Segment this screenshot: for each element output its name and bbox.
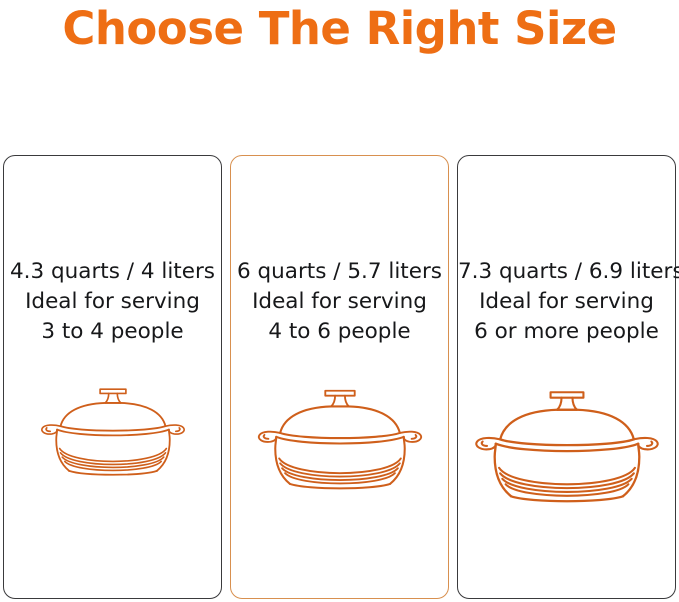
capacity-label: 7.3 quarts / 6.9 liters — [458, 257, 675, 287]
dutch-oven-pot-icon — [464, 378, 670, 504]
page-title: Choose The Right Size — [0, 0, 679, 58]
serving-people-label: 3 to 4 people — [4, 317, 221, 347]
serving-label: Ideal for serving — [4, 287, 221, 317]
serving-people-label: 6 or more people — [458, 317, 675, 347]
size-card-text: 4.3 quarts / 4 liters Ideal for serving … — [4, 257, 221, 347]
pot-illustration-wrap — [231, 368, 448, 598]
pot-illustration-wrap — [4, 368, 221, 598]
dutch-oven-pot-icon — [20, 378, 206, 493]
size-card-large[interactable]: 7.3 quarts / 6.9 liters Ideal for servin… — [457, 155, 676, 599]
size-card-medium[interactable]: 6 quarts / 5.7 liters Ideal for serving … — [230, 155, 449, 599]
size-card-text: 6 quarts / 5.7 liters Ideal for serving … — [231, 257, 448, 347]
size-card-row: 4.3 quarts / 4 liters Ideal for serving … — [3, 155, 676, 599]
size-card-text: 7.3 quarts / 6.9 liters Ideal for servin… — [458, 257, 675, 347]
serving-label: Ideal for serving — [231, 287, 448, 317]
dutch-oven-pot-icon — [242, 378, 438, 498]
capacity-label: 4.3 quarts / 4 liters — [4, 257, 221, 287]
serving-label: Ideal for serving — [458, 287, 675, 317]
size-card-small[interactable]: 4.3 quarts / 4 liters Ideal for serving … — [3, 155, 222, 599]
serving-people-label: 4 to 6 people — [231, 317, 448, 347]
pot-illustration-wrap — [458, 368, 675, 598]
capacity-label: 6 quarts / 5.7 liters — [231, 257, 448, 287]
